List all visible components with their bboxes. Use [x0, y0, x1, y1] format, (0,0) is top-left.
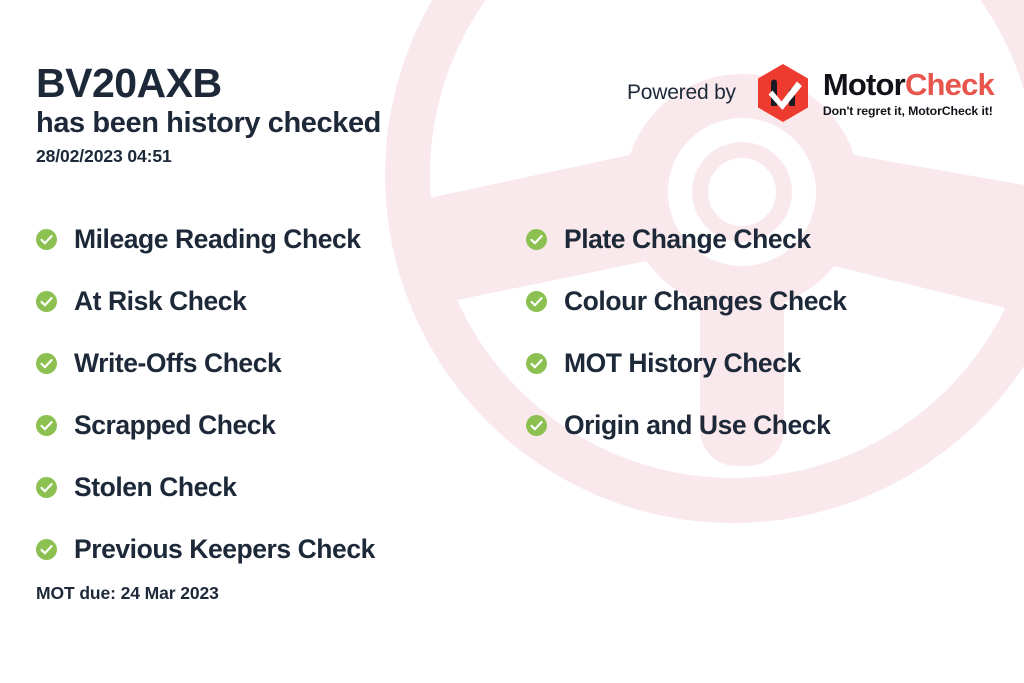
check-circle-icon — [526, 229, 547, 250]
brand-wordmark-block: MotorCheck Don't regret it, MotorCheck i… — [823, 69, 994, 118]
checks-left-column: Mileage Reading Check At Risk Check Writ… — [36, 208, 526, 580]
check-item: MOT History Check — [526, 332, 986, 394]
check-item-label: Mileage Reading Check — [74, 224, 361, 255]
check-item: Plate Change Check — [526, 208, 986, 270]
check-item: Origin and Use Check — [526, 394, 986, 456]
check-circle-icon — [36, 291, 57, 312]
check-circle-icon — [36, 229, 57, 250]
check-item-label: Plate Change Check — [564, 224, 811, 255]
check-item-label: Origin and Use Check — [564, 410, 830, 441]
check-circle-icon — [36, 477, 57, 498]
wordmark-motor: Motor — [823, 67, 905, 102]
brand-bar: Powered by MotorCheck Don't regret it, M… — [627, 62, 994, 124]
check-item: At Risk Check — [36, 270, 526, 332]
powered-by-label: Powered by — [627, 81, 736, 105]
checks-right-column: Plate Change Check Colour Changes Check … — [526, 208, 986, 580]
check-item: Write-Offs Check — [36, 332, 526, 394]
check-circle-icon — [36, 353, 57, 374]
check-circle-icon — [526, 291, 547, 312]
check-item-label: Previous Keepers Check — [74, 534, 375, 565]
check-item-label: Colour Changes Check — [564, 286, 847, 317]
check-item-label: Scrapped Check — [74, 410, 275, 441]
brand-tagline: Don't regret it, MotorCheck it! — [823, 104, 994, 118]
registration-plate: BV20AXB — [36, 62, 381, 105]
check-item-label: Write-Offs Check — [74, 348, 281, 379]
check-item: Colour Changes Check — [526, 270, 986, 332]
wordmark-check: Check — [905, 67, 994, 102]
mot-due-label: MOT due: 24 Mar 2023 — [36, 583, 219, 604]
header-block: BV20AXB has been history checked 28/02/2… — [36, 62, 381, 167]
check-item-label: At Risk Check — [74, 286, 246, 317]
motorcheck-hexagon-logo-icon — [752, 62, 814, 124]
vehicle-history-check-banner: BV20AXB has been history checked 28/02/2… — [0, 0, 1024, 683]
check-item-label: Stolen Check — [74, 472, 236, 503]
check-circle-icon — [526, 353, 547, 374]
check-circle-icon — [526, 415, 547, 436]
checks-section: Mileage Reading Check At Risk Check Writ… — [36, 208, 988, 580]
check-circle-icon — [36, 415, 57, 436]
check-item: Stolen Check — [36, 456, 526, 518]
check-item-label: MOT History Check — [564, 348, 801, 379]
check-item: Previous Keepers Check — [36, 518, 526, 580]
brand-wordmark: MotorCheck — [823, 69, 994, 100]
page-title: has been history checked — [36, 107, 381, 140]
check-circle-icon — [36, 539, 57, 560]
check-item: Mileage Reading Check — [36, 208, 526, 270]
check-timestamp: 28/02/2023 04:51 — [36, 146, 381, 167]
check-item: Scrapped Check — [36, 394, 526, 456]
